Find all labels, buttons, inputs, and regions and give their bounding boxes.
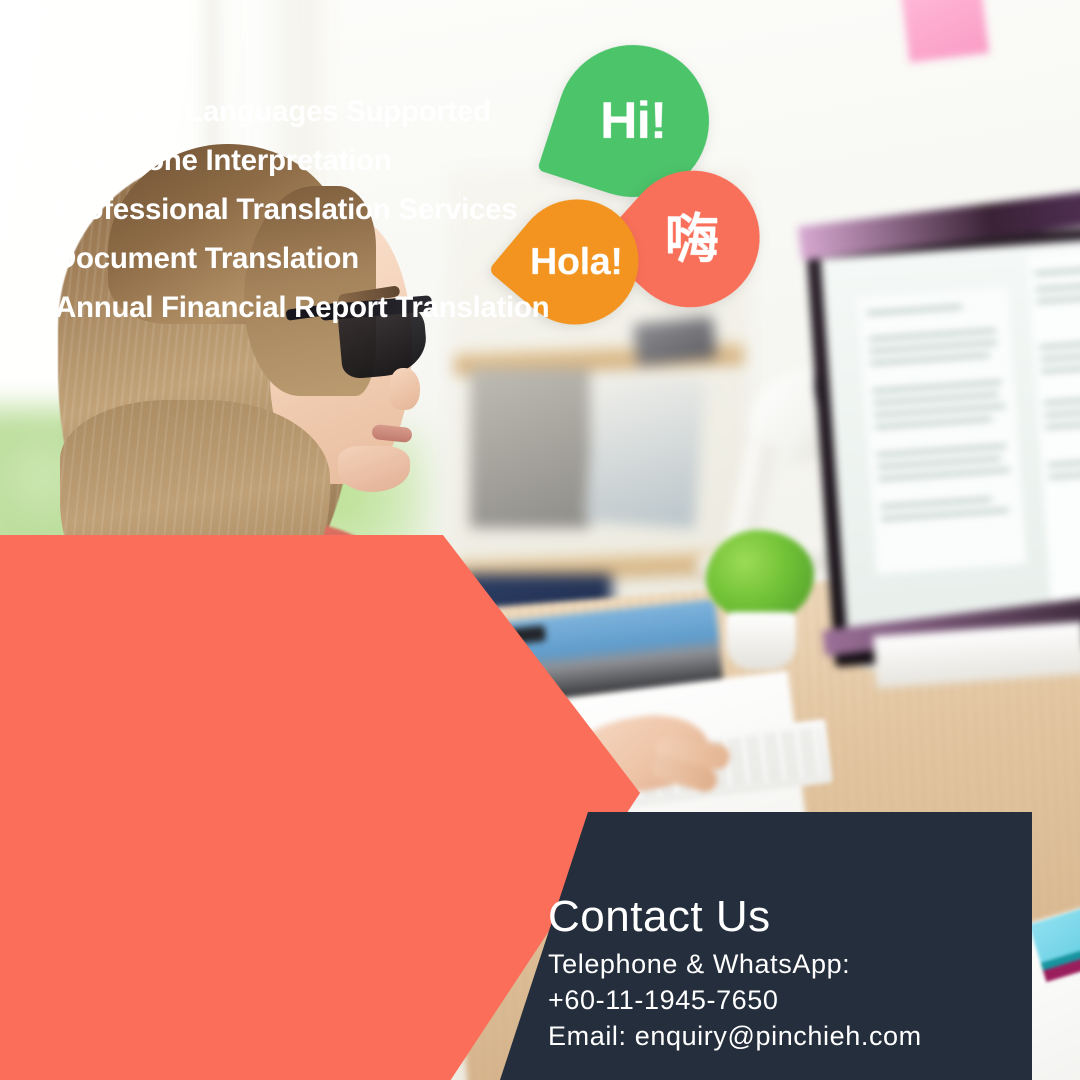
speech-bubble-chinese-text: 嗨 <box>665 212 719 266</box>
feature-label-4: Document Translation <box>55 243 359 275</box>
feature-list: ✓ Over 400 Languages Supported ✓ Telepho… <box>16 96 576 341</box>
chin <box>338 446 410 492</box>
check-icon: ✓ <box>16 191 50 230</box>
screen-document-right <box>1027 244 1080 612</box>
computer-monitor <box>806 227 1080 667</box>
feature-item-5: ✓ Annual Financial Report Translation <box>16 292 576 328</box>
check-icon: ✓ <box>16 289 50 328</box>
contact-title: Contact Us <box>548 893 1018 941</box>
plant-foliage <box>706 530 814 622</box>
promo-poster: Hi! 嗨 Hola! ✓ Over 400 Languages Support… <box>0 0 1080 1080</box>
shelf-item-device <box>633 316 717 366</box>
plant-pot <box>726 612 796 670</box>
contact-phone-label: Telephone & WhatsApp: <box>548 947 1018 983</box>
contact-phone-number[interactable]: +60-11-1945-7650 <box>548 983 1018 1019</box>
speech-bubble-hi-text: Hi! <box>600 95 666 147</box>
feature-label-3: Professional Translation Services <box>55 194 517 226</box>
feature-item-4: ✓ Document Translation <box>16 243 576 279</box>
feature-item-2: ✓ Telephone Interpretation <box>16 145 576 181</box>
monitor-screen <box>821 235 1080 636</box>
sticky-note-pink <box>901 0 989 63</box>
check-icon: ✓ <box>16 240 50 279</box>
check-icon: ✓ <box>16 93 50 132</box>
nose <box>390 368 420 410</box>
contact-email[interactable]: Email: enquiry@pinchieh.com <box>548 1019 1018 1055</box>
feature-item-1: ✓ Over 400 Languages Supported <box>16 96 576 132</box>
feature-label-2: Telephone Interpretation <box>55 145 391 177</box>
feature-label-1: Over 400 Languages Supported <box>55 96 491 128</box>
contact-details: Contact Us Telephone & WhatsApp: +60-11-… <box>548 893 1018 1054</box>
check-icon: ✓ <box>16 142 50 181</box>
feature-item-3: ✓ Professional Translation Services <box>16 194 576 230</box>
potted-plant <box>700 530 820 670</box>
screen-document-left <box>858 288 1027 574</box>
shelf-item-grey <box>470 368 590 528</box>
feature-label-5: Annual Financial Report Translation <box>55 292 549 324</box>
shelf-item-book <box>585 371 705 528</box>
